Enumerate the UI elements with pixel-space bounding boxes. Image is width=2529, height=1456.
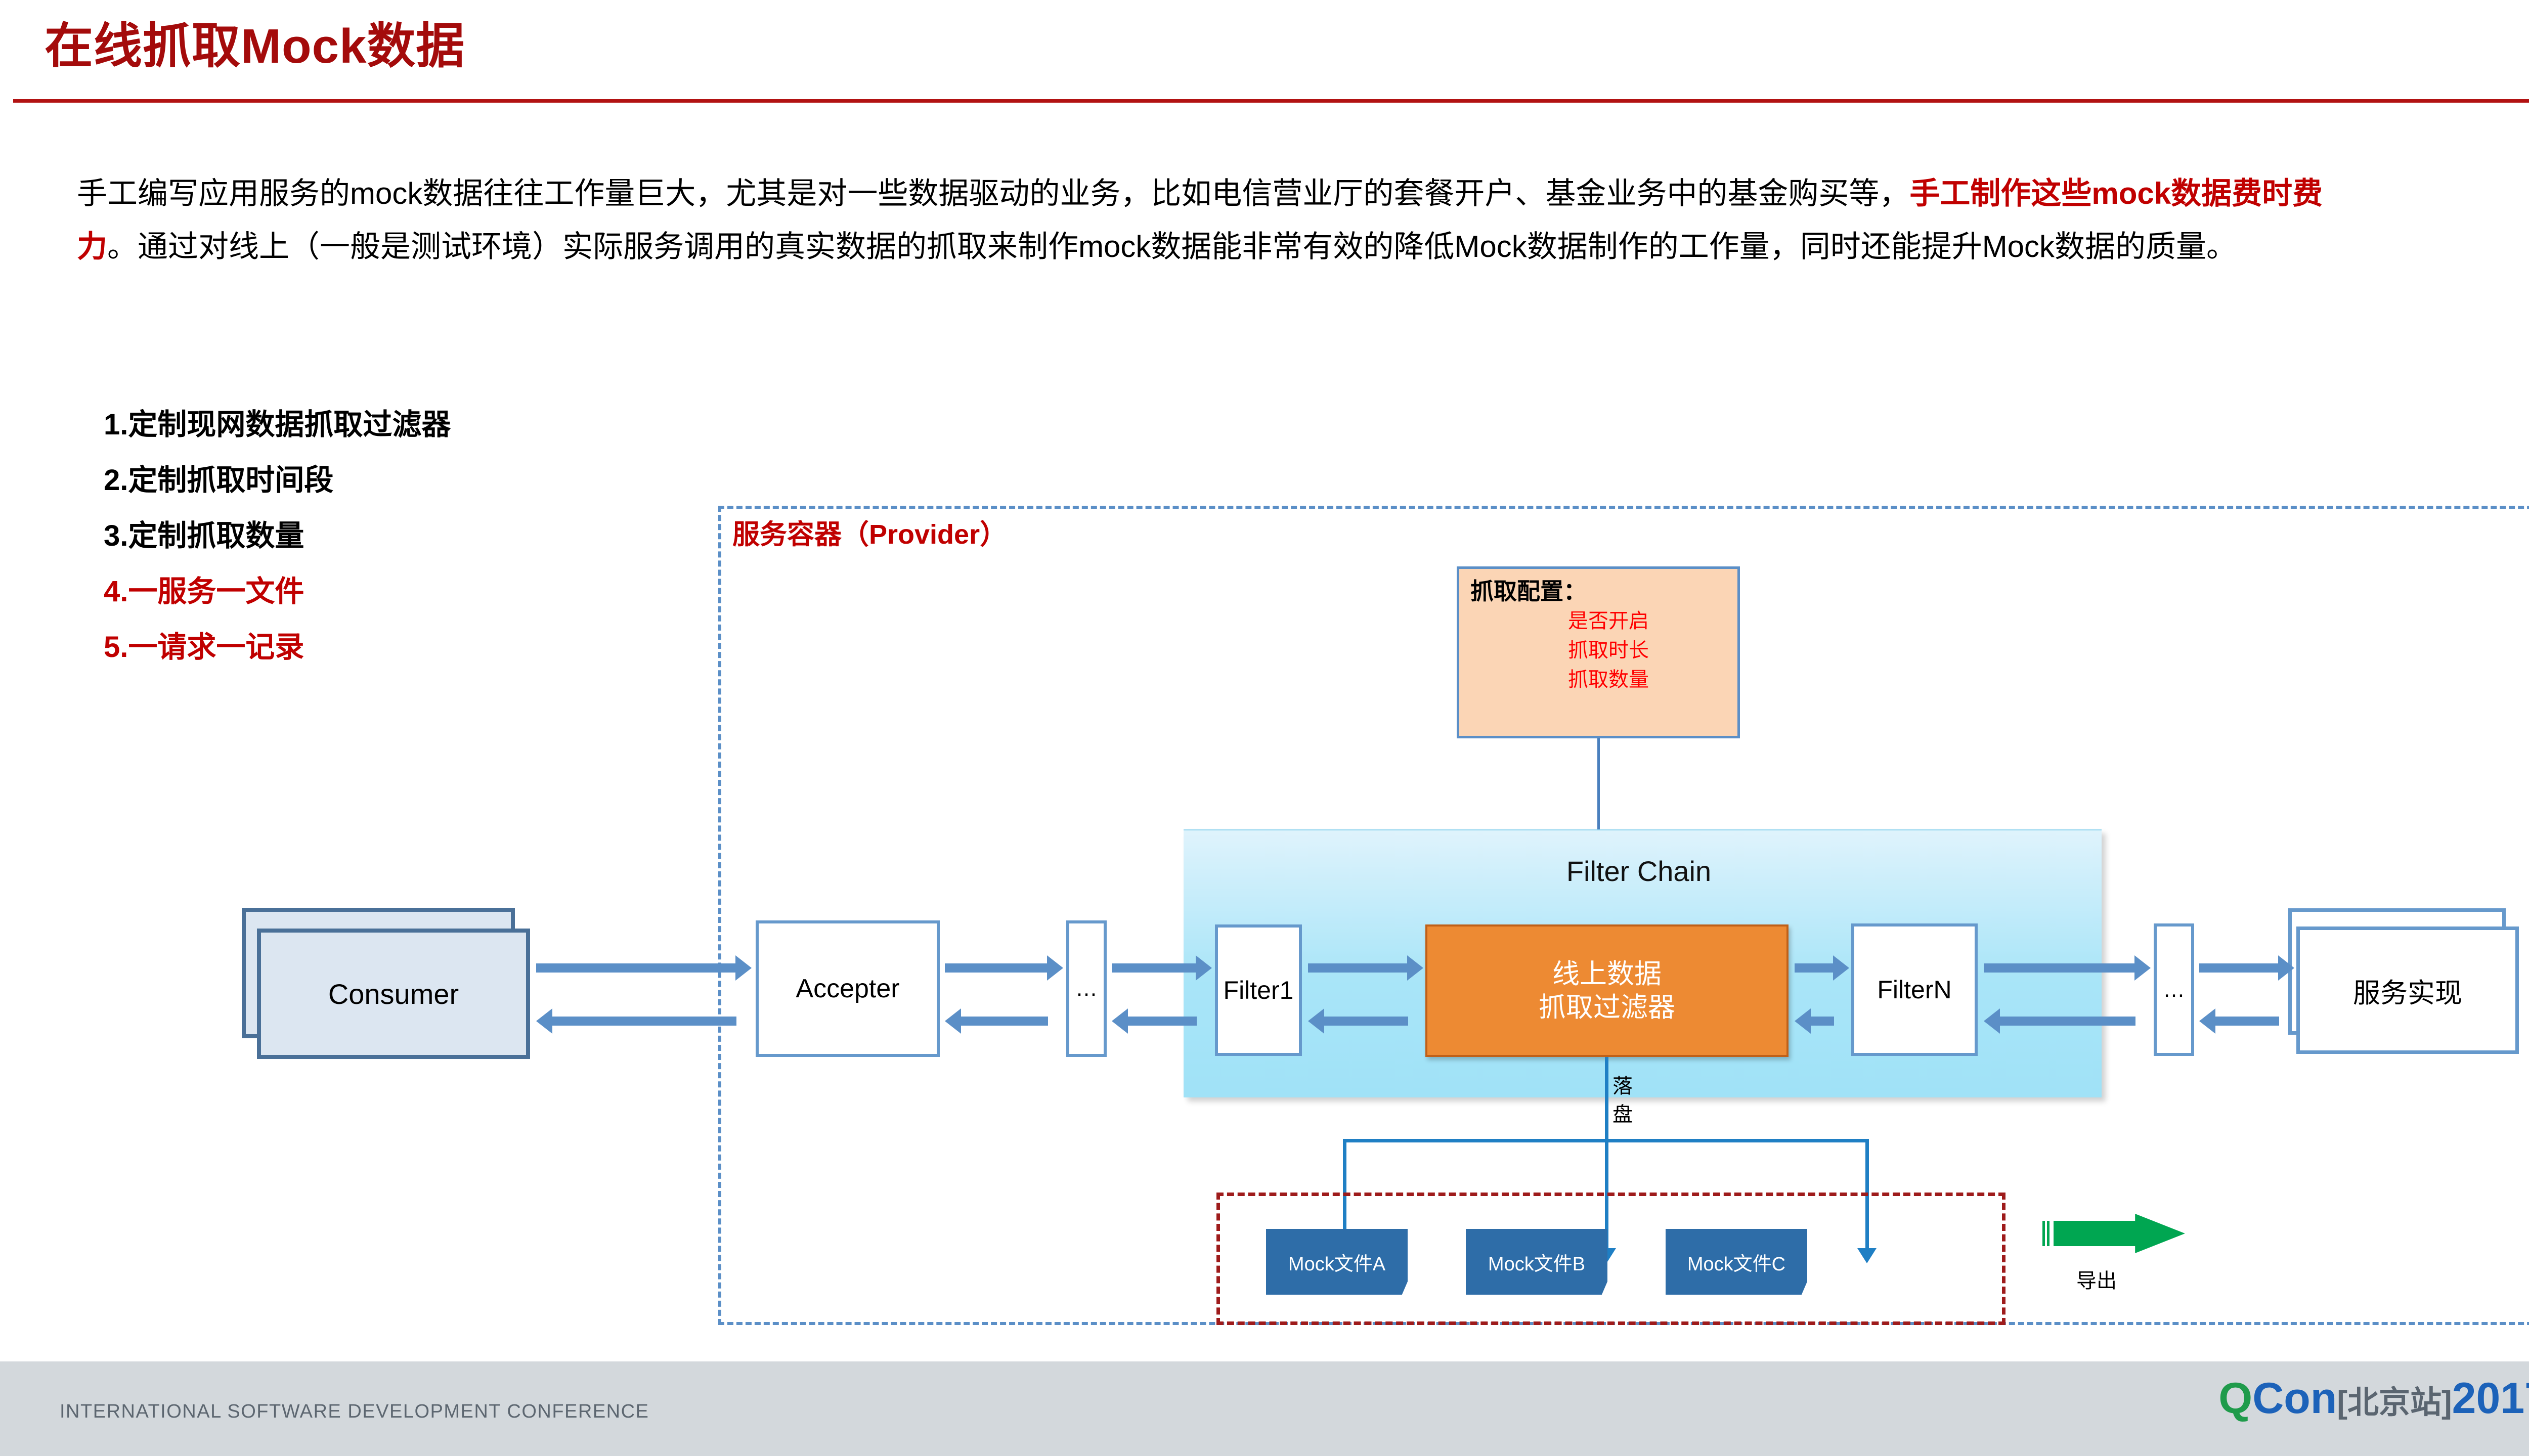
mock-file-c: Mock文件C	[1666, 1229, 1807, 1295]
arrow-consumer-to-accepter-icon	[536, 963, 736, 973]
requirements-list: 1.定制现网数据抓取过滤器 2.定制抓取时间段 3.定制抓取数量 4.一服务一文…	[104, 407, 451, 685]
arrow-accepter-to-ellipsis-icon	[945, 963, 1048, 973]
capture-config-option: 是否开启	[1459, 606, 1737, 636]
list-item-label: 一请求一记录	[128, 631, 304, 664]
list-item-label: 定制抓取时间段	[128, 464, 333, 497]
arrow-filtern-to-ellipsis-icon	[1984, 963, 2135, 973]
capture-config-box: 抓取配置： 是否开启 抓取时长 抓取数量	[1457, 566, 1740, 738]
list-item-number: 1.	[104, 408, 128, 441]
persist-label: 落盘	[1612, 1072, 1636, 1129]
title-divider	[13, 99, 2529, 103]
list-item-label: 定制抓取数量	[128, 519, 304, 552]
list-item-number: 5.	[104, 631, 128, 664]
arrow-ellipsis-to-service-icon	[2199, 963, 2279, 973]
page-title: 在线抓取Mock数据	[45, 21, 465, 72]
filter-chain-label: Filter Chain	[1381, 855, 1897, 888]
qcon-logo-q: Q	[2218, 1374, 2252, 1423]
arrow-filter1-to-ellipsis-icon	[1127, 1017, 1197, 1026]
ellipsis-box-right: …	[2154, 923, 2194, 1056]
arrow-accepter-to-consumer-icon	[551, 1017, 736, 1026]
capture-config-title: 抓取配置：	[1459, 576, 1737, 606]
qcon-logo-con: Con	[2252, 1374, 2337, 1423]
filter1-box: Filter1	[1215, 924, 1302, 1056]
capture-filter-line-1: 线上数据	[1552, 957, 1662, 991]
arrow-ellipsis-to-accepter-icon	[960, 1017, 1048, 1026]
export-arrow-tail-icon	[2042, 1221, 2052, 1246]
provider-label: 服务容器（Provider）	[732, 512, 1007, 552]
list-item: 2.定制抓取时间段	[104, 463, 451, 498]
arrow-capture-to-filtern-icon	[1795, 963, 1834, 973]
list-item-label: 定制现网数据抓取过滤器	[128, 408, 451, 441]
export-label: 导出	[2054, 1264, 2140, 1294]
paragraph-part-2: 。通过对线上（一般是测试环境）实际服务调用的真实数据的抓取来制作mock数据能非…	[107, 230, 2237, 263]
list-item: 5.一请求一记录	[104, 630, 451, 665]
arrow-ellipsis-to-filter1-icon	[1112, 963, 1197, 973]
intro-paragraph: 手工编写应用服务的mock数据往往工作量巨大，尤其是对一些数据驱动的业务，比如电…	[77, 167, 2383, 273]
arrow-capture-to-filter1-icon	[1323, 1017, 1408, 1026]
consumer-box: Consumer	[257, 929, 530, 1059]
list-item: 3.定制抓取数量	[104, 518, 451, 554]
service-impl-box: 服务实现	[2296, 926, 2519, 1054]
qcon-logo-year: 2017	[2452, 1374, 2529, 1423]
arrow-service-to-ellipsis-icon	[2214, 1017, 2279, 1026]
ellipsis-box-left: …	[1066, 920, 1107, 1057]
arrow-filter1-to-capture-icon	[1308, 963, 1408, 973]
arrow-ellipsis-to-filtern-icon	[1999, 1017, 2135, 1026]
mock-file-a: Mock文件A	[1266, 1229, 1408, 1295]
capture-config-option: 抓取数量	[1459, 665, 1737, 694]
list-item-label: 一服务一文件	[128, 575, 304, 608]
capture-filter-line-2: 抓取过滤器	[1539, 991, 1675, 1024]
mock-file-b: Mock文件B	[1466, 1229, 1607, 1295]
list-item-number: 3.	[104, 519, 128, 552]
qcon-logo: QCon[北京站]2017	[2218, 1377, 2529, 1420]
list-item: 1.定制现网数据抓取过滤器	[104, 407, 451, 443]
list-item-number: 4.	[104, 575, 128, 608]
capture-config-option: 抓取时长	[1459, 636, 1737, 665]
qcon-logo-city: [北京站]	[2337, 1385, 2452, 1420]
capture-filter-box: 线上数据 抓取过滤器	[1425, 924, 1789, 1057]
config-to-filter-arrow-icon	[1597, 738, 1600, 834]
footer-tagline: INTERNATIONAL SOFTWARE DEVELOPMENT CONFE…	[60, 1401, 649, 1423]
list-item-number: 2.	[104, 464, 128, 497]
filtern-box: FilterN	[1851, 923, 1978, 1056]
accepter-box: Accepter	[756, 920, 940, 1057]
arrow-filtern-to-capture-icon	[1810, 1017, 1834, 1026]
slide-canvas: 在线抓取Mock数据 手工编写应用服务的mock数据往往工作量巨大，尤其是对一些…	[0, 0, 2529, 1456]
paragraph-part-1: 手工编写应用服务的mock数据往往工作量巨大，尤其是对一些数据驱动的业务，比如电…	[77, 177, 1909, 210]
list-item: 4.一服务一文件	[104, 574, 451, 609]
